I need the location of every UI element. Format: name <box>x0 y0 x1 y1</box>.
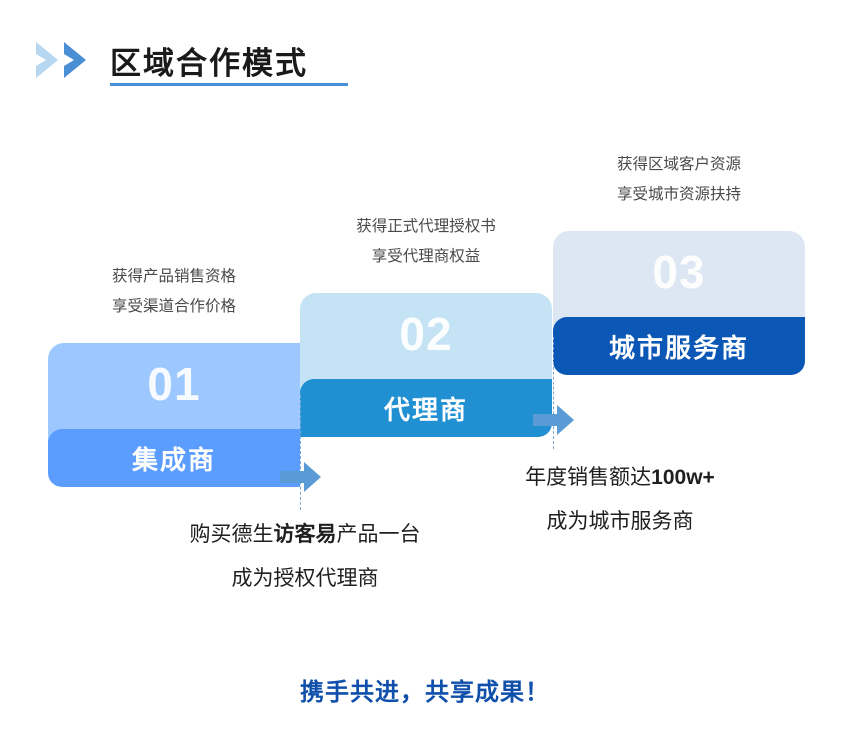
transition-line2: 成为城市服务商 <box>455 500 785 544</box>
title-underline <box>110 83 348 86</box>
transition-description-1: 购买德生访客易产品一台 成为授权代理商 <box>140 513 470 601</box>
page-title: 区域合作模式 <box>110 38 308 83</box>
step-number-03: 03 <box>553 249 805 295</box>
transition-line1: 购买德生访客易产品一台 <box>140 513 470 557</box>
arrow-right-icon-1 <box>280 460 322 494</box>
step-caption-01: 获得产品销售资格 享受渠道合作价格 <box>48 262 300 322</box>
step-caption-02: 获得正式代理授权书 享受代理商权益 <box>300 212 552 272</box>
step-caption-line2: 享受城市资源扶持 <box>553 180 805 210</box>
step-name-02: 代理商 <box>384 390 468 427</box>
step-band-02: 代理商 <box>300 379 552 437</box>
arrow-right-icon-2 <box>533 403 575 437</box>
step-caption-03: 获得区域客户资源 享受城市资源扶持 <box>553 150 805 210</box>
page-header: 区域合作模式 <box>0 0 850 100</box>
step-caption-line1: 获得区域客户资源 <box>553 150 805 180</box>
step-band-01: 集成商 <box>48 429 300 487</box>
double-chevron-icon <box>34 41 108 79</box>
step-band-03: 城市服务商 <box>553 317 805 375</box>
transition-line1-bold: 100w+ <box>651 466 715 489</box>
transition-line1-suffix: 产品一台 <box>337 523 421 546</box>
transition-line1: 年度销售额达100w+ <box>455 456 785 500</box>
transition-line1-prefix: 年度销售额达 <box>525 466 651 489</box>
step-caption-line2: 享受代理商权益 <box>300 242 552 272</box>
step-caption-line1: 获得正式代理授权书 <box>300 212 552 242</box>
chevron-right-dark-icon <box>62 41 96 79</box>
transition-line1-bold: 访客易 <box>274 523 337 546</box>
step-number-01: 01 <box>48 361 300 407</box>
transition-line1-prefix: 购买德生 <box>190 523 274 546</box>
footer-slogan: 携手共进，共享成果！ <box>0 672 850 707</box>
transition-description-2: 年度销售额达100w+ 成为城市服务商 <box>455 456 785 544</box>
transition-line2: 成为授权代理商 <box>140 557 470 601</box>
step-caption-line1: 获得产品销售资格 <box>48 262 300 292</box>
step-name-01: 集成商 <box>132 440 216 477</box>
step-caption-line2: 享受渠道合作价格 <box>48 292 300 322</box>
step-name-03: 城市服务商 <box>609 328 749 365</box>
step-number-02: 02 <box>300 311 552 357</box>
